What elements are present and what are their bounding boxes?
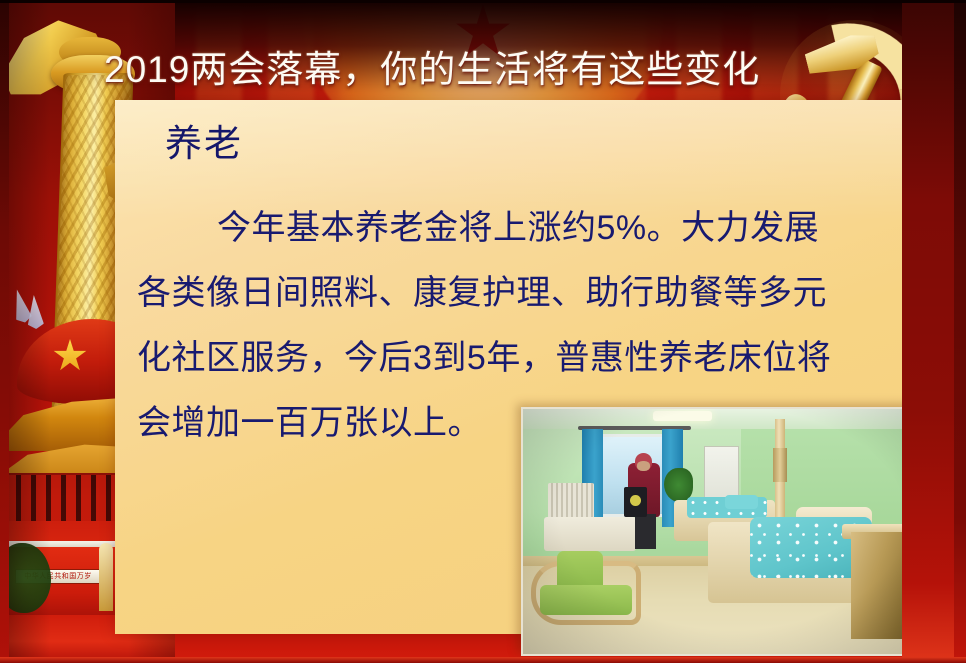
left-border <box>0 0 9 663</box>
photo-vignette <box>523 409 943 654</box>
right-border <box>954 0 966 663</box>
right-inner-border <box>902 0 954 663</box>
top-border <box>0 0 966 3</box>
bottom-border <box>0 657 966 663</box>
body-line: 各类像日间照料、康复护理、助行助餐等多元 <box>137 261 897 326</box>
body-line: 化社区服务，今后3到5年，普惠性养老床位将 <box>137 326 897 391</box>
section-heading: 养老 <box>165 122 243 166</box>
page-title: 2019两会落幕，你的生活将有这些变化 <box>104 48 760 92</box>
nursing-home-photo <box>521 407 945 656</box>
slide-root: 中华人民共和国万岁 世界人民大团结万岁 2019两会落幕，你的生活将有这些变化 … <box>0 0 966 663</box>
body-line: 今年基本养老金将上涨约5%。大力发展 <box>137 196 897 261</box>
